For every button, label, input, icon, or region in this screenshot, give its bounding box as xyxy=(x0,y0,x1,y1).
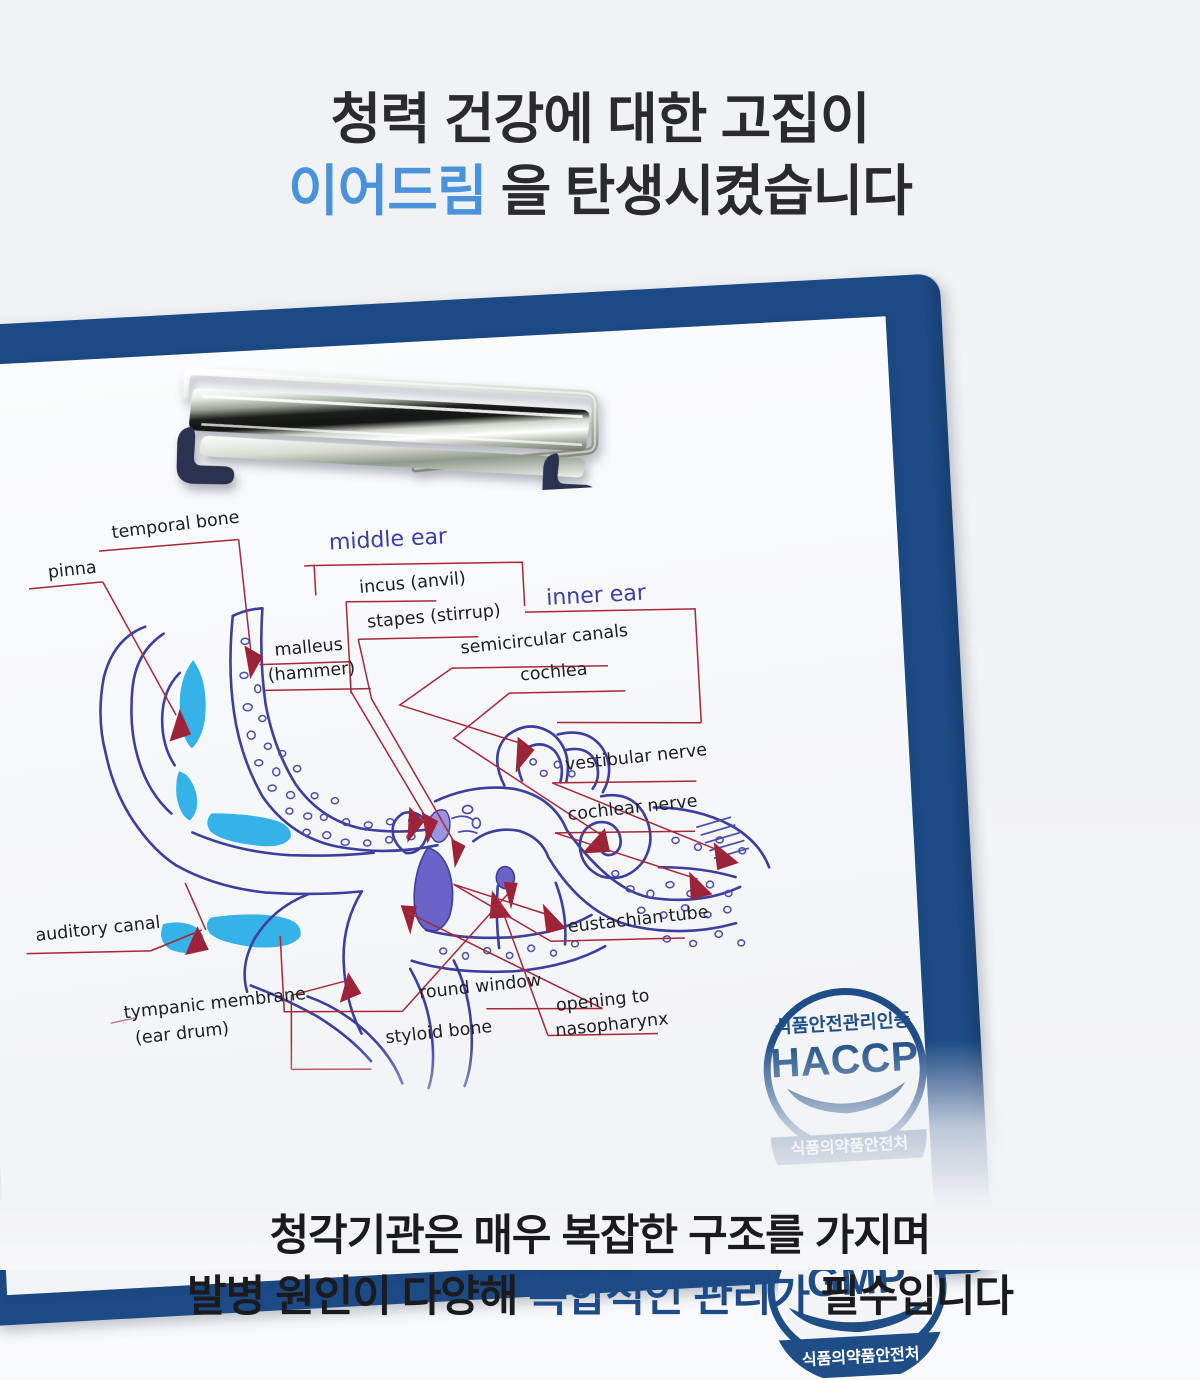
diagram-label-14: round window xyxy=(418,970,542,1003)
diagram-label-0: pinna xyxy=(47,558,98,583)
diagram-label-1: temporal bone xyxy=(111,508,241,544)
headline-line-1: 청력 건강에 대한 고집이 xyxy=(331,88,870,150)
headline-line-2-rest: 을 탄생시켰습니다 xyxy=(487,160,912,222)
metal-clip-icon xyxy=(143,345,640,511)
page-root: 청력 건강에 대한 고집이 이어드림 을 탄생시켰습니다 xyxy=(0,0,1200,1380)
haccp-badge-icon: 식품안전관리인증 HACCP 식품의약품안전처 xyxy=(746,980,945,1166)
haccp-main-text: HACCP xyxy=(769,1033,920,1087)
diagram-label-group: middle earinner earpinnatemporal boneinc… xyxy=(12,483,722,1069)
diagram-label-5: (hammer) xyxy=(267,658,356,686)
diagram-label-8: vestibular nerve xyxy=(564,740,708,775)
diagram-group-label-0: middle ear xyxy=(328,524,448,555)
diagram-label-13: styloid bone xyxy=(385,1017,494,1048)
footer-line-2-pre: 발병 원인이 다양해 xyxy=(187,1273,528,1321)
footer-accent: 복합적인 관리가 xyxy=(528,1273,809,1321)
footer-copy: 청각기관은 매우 복잡한 구조를 가지며 발병 원인이 다양해 복합적인 관리가… xyxy=(0,1206,1200,1328)
haccp-certification-badge: 식품안전관리인증 HACCP 식품의약품안전처 xyxy=(746,980,946,1171)
diagram-label-11: tympanic membrane xyxy=(123,984,307,1023)
ear-anatomy-svg: .bl { fill:none; stroke:#3c3f9e; stroke-… xyxy=(0,470,810,1112)
headline-line-2: 이어드림 을 탄생시켰습니다 xyxy=(0,156,1200,228)
footer-line-1: 청각기관은 매우 복잡한 구조를 가지며 xyxy=(270,1212,931,1260)
clipboard-clip[interactable] xyxy=(143,345,640,511)
diagram-label-6: semicircular canals xyxy=(460,621,629,659)
diagram-label-2: incus (anvil) xyxy=(358,569,466,598)
diagram-label-4: malleus xyxy=(274,635,344,661)
footer-line-2-post: 필수입니다 xyxy=(809,1273,1013,1321)
clipboard: .bl { fill:none; stroke:#3c3f9e; stroke-… xyxy=(0,273,1004,1336)
diagram-label-3: stapes (stirrup) xyxy=(366,601,501,633)
brand-name: 이어드림 xyxy=(288,160,486,222)
ear-anatomy-diagram: .bl { fill:none; stroke:#3c3f9e; stroke-… xyxy=(0,470,810,1112)
diagram-label-7: cochlea xyxy=(519,660,588,686)
footer-line-2: 발병 원인이 다양해 복합적인 관리가 필수입니다 xyxy=(0,1267,1200,1328)
diagram-label-12: (ear drum) xyxy=(134,1019,230,1049)
headline: 청력 건강에 대한 고집이 이어드림 을 탄생시켰습니다 xyxy=(0,84,1200,227)
diagram-label-10: auditory canal xyxy=(34,913,161,946)
diagram-group-label-1: inner ear xyxy=(546,581,648,611)
